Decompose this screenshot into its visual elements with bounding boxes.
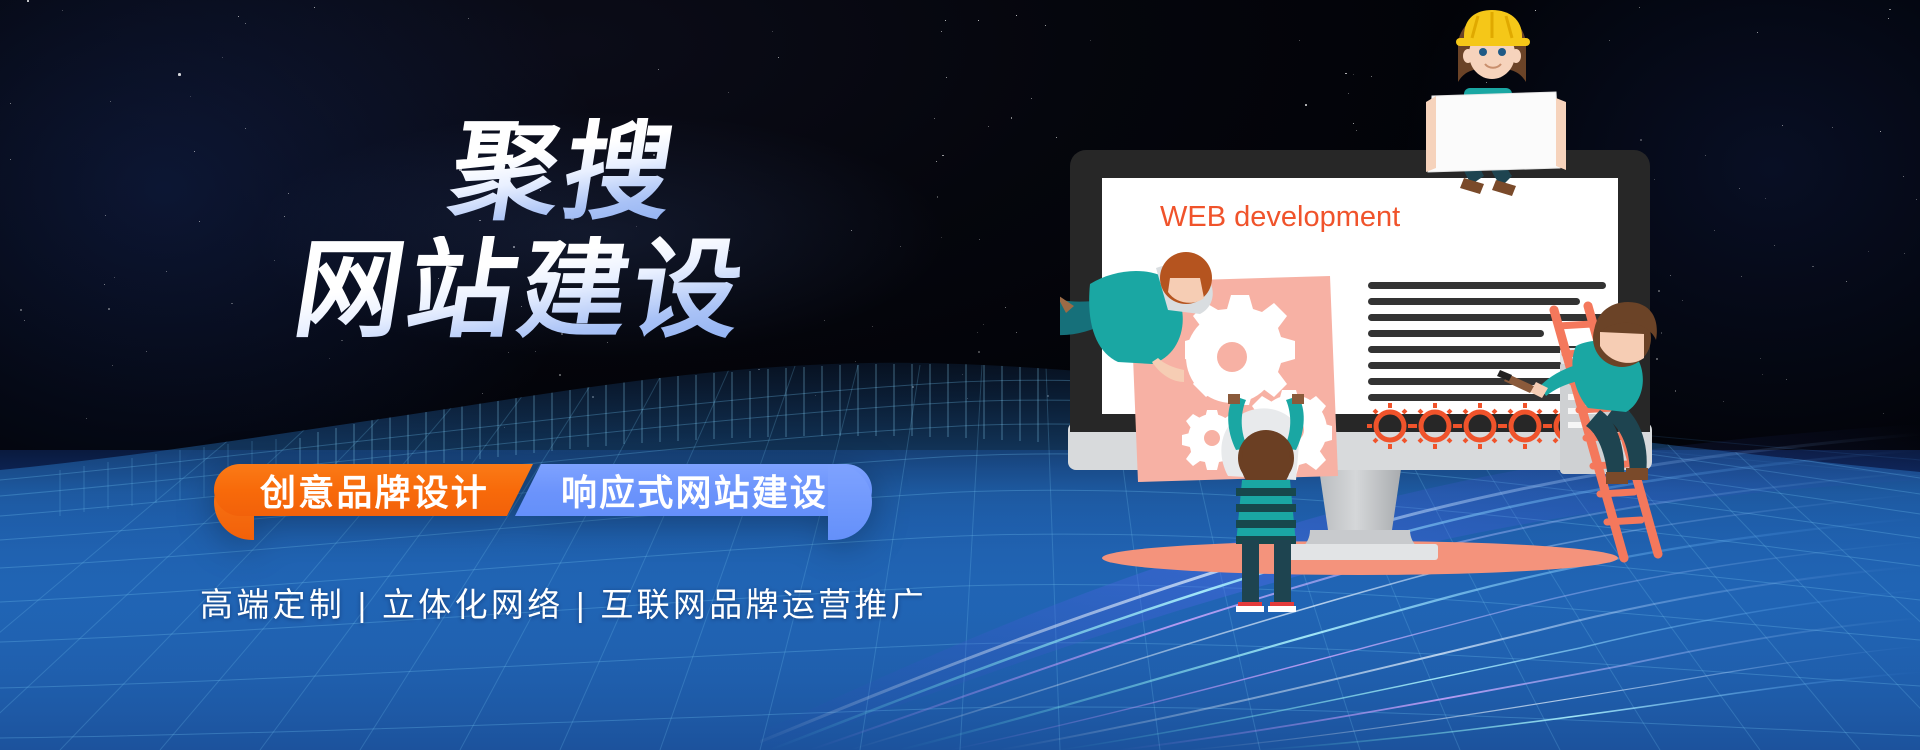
star (245, 128, 246, 129)
star (851, 230, 852, 231)
star (105, 215, 106, 216)
star (10, 159, 11, 160)
star (946, 77, 947, 78)
star (1705, 155, 1706, 156)
star (190, 96, 191, 97)
star (468, 18, 469, 19)
star (274, 260, 275, 261)
star (658, 69, 659, 70)
pill-creative-brand-design[interactable]: 创意品牌设计 (214, 464, 533, 516)
star (1868, 251, 1869, 252)
star (314, 7, 315, 8)
star (108, 308, 110, 310)
web-development-illustration: WEB development (1060, 10, 1680, 750)
pill-creative-brand-design-label: 创意品牌设计 (260, 464, 489, 516)
star (1016, 15, 1017, 16)
star (178, 73, 181, 76)
brand-title: 聚搜 (443, 118, 685, 226)
star (166, 271, 167, 272)
pill-responsive-web-build-label: 响应式网站建设 (561, 464, 828, 516)
star (1916, 199, 1917, 200)
star (231, 303, 233, 305)
star (110, 101, 112, 103)
star (238, 16, 239, 17)
star (1045, 25, 1046, 26)
star (945, 20, 946, 21)
star (114, 277, 115, 278)
star (979, 239, 981, 241)
star (941, 31, 942, 32)
service-pill-group: 创意品牌设计 响应式网站建设 (214, 464, 872, 540)
star (728, 92, 729, 93)
star (199, 221, 200, 222)
star (1889, 9, 1891, 11)
star (1903, 176, 1904, 177)
star (288, 193, 289, 194)
monitor-foot (1282, 544, 1438, 560)
star (988, 126, 989, 127)
star (778, 57, 779, 58)
pill-responsive-web-build[interactable]: 响应式网站建设 (515, 464, 872, 516)
star (1782, 125, 1784, 127)
star (1812, 266, 1814, 268)
star (1056, 137, 1057, 138)
star (1005, 307, 1006, 308)
page-title: 网站建设 (287, 236, 753, 344)
star (10, 103, 11, 104)
tagline: 高端定制 | 立体化网络 | 互联网品牌运营推广 (200, 578, 927, 626)
star (1739, 188, 1740, 189)
star (1011, 117, 1013, 119)
star (942, 155, 944, 157)
star (1846, 281, 1847, 282)
star (1904, 253, 1905, 254)
star (1741, 276, 1742, 277)
star (936, 161, 937, 162)
star (27, 0, 29, 2)
star (937, 196, 939, 198)
star (1757, 32, 1758, 33)
star (1880, 131, 1881, 132)
star (934, 118, 935, 119)
character-engineer-with-blueprint (1426, 10, 1566, 196)
star (20, 309, 22, 311)
star (1888, 18, 1889, 19)
star (1765, 198, 1767, 200)
star (941, 237, 942, 238)
star (245, 23, 246, 24)
star (978, 20, 979, 21)
star (222, 57, 223, 58)
character-worker-lifting-poster (1221, 394, 1304, 612)
star (1774, 245, 1775, 246)
star (194, 151, 195, 152)
star (1832, 127, 1833, 128)
star (1031, 98, 1032, 99)
star (1639, 7, 1640, 8)
star (1682, 300, 1683, 301)
star (772, 31, 773, 32)
star (900, 246, 901, 247)
hero-banner: 聚搜 网站建设 创意品牌设计 响应式网站建设 高端定制 | 立体化网络 | 互联… (0, 0, 1920, 750)
screen-heading: WEB development (1160, 201, 1400, 233)
star (284, 216, 285, 217)
star (1714, 230, 1715, 231)
star (104, 284, 105, 285)
star (62, 10, 63, 11)
